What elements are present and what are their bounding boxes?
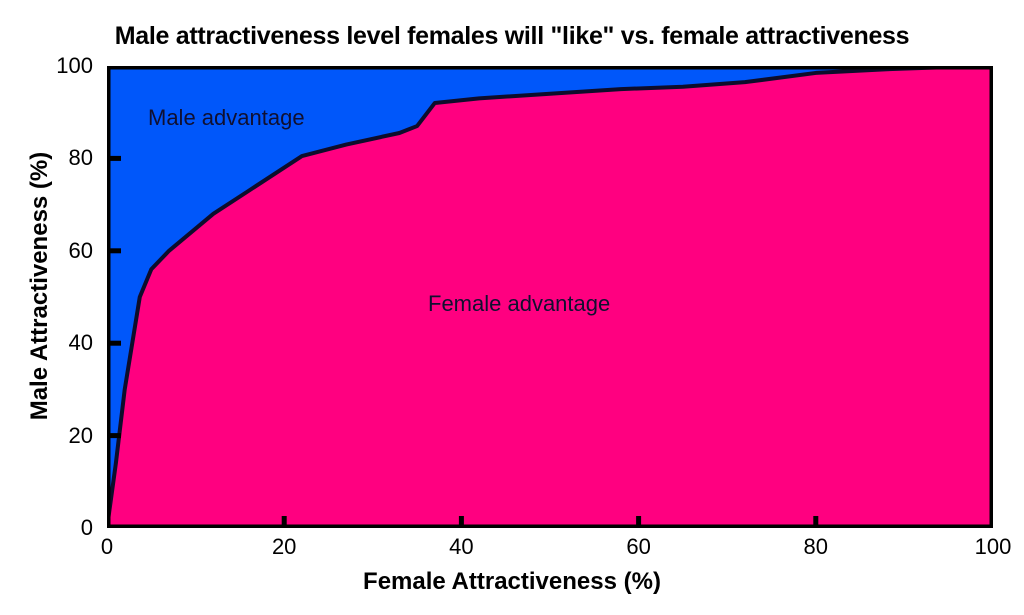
x-tick-label: 100 (963, 534, 1023, 560)
x-tick-label: 40 (431, 534, 491, 560)
page-title: Male attractiveness level females will "… (0, 22, 1024, 51)
y-tick-label: 100 (23, 53, 93, 77)
x-tick-label: 60 (609, 534, 669, 560)
male-advantage-annotation: Male advantage (148, 105, 305, 131)
y-tick-label: 60 (23, 238, 93, 262)
x-axis-label: Female Attractiveness (%) (0, 568, 1024, 596)
y-tick-label: 80 (23, 145, 93, 169)
y-tick-label: 0 (23, 515, 93, 539)
x-tick-label: 20 (254, 534, 314, 560)
chart-figure: Male attractiveness level females will "… (0, 0, 1024, 615)
y-axis-label: Male Attractiveness (%) (26, 126, 54, 446)
y-tick-label: 20 (23, 423, 93, 447)
y-tick-label: 40 (23, 330, 93, 354)
x-tick-label: 80 (786, 534, 846, 560)
female-advantage-annotation: Female advantage (428, 291, 610, 317)
